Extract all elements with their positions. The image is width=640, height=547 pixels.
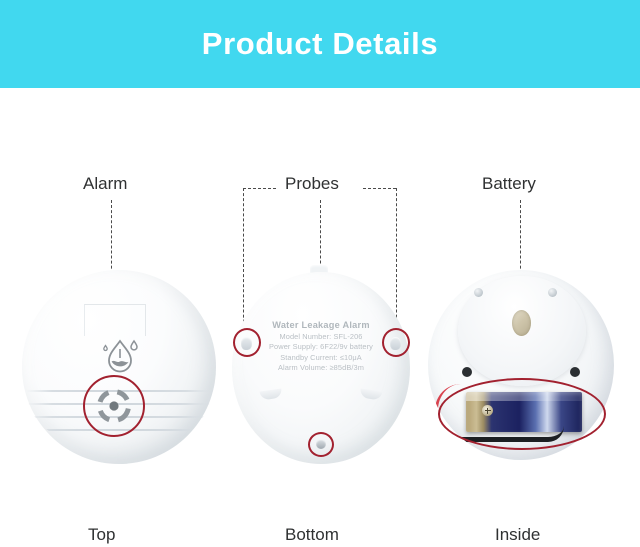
center-knob	[512, 310, 531, 336]
header-banner: Product Details	[0, 0, 640, 88]
highlight-ring-battery	[438, 378, 606, 450]
speaker-grill-icon	[96, 388, 132, 424]
page-title: Product Details	[202, 26, 438, 62]
spec-standby-current: Standby Current: ≤10μA	[236, 353, 406, 364]
product-image-top-view	[22, 270, 216, 464]
product-detail-stage: Alarm Probes Battery	[0, 88, 640, 547]
spec-power-supply: Power Supply: 6F22/9v battery	[236, 342, 406, 353]
highlight-ring-probe-left	[233, 328, 261, 357]
spec-alarm-volume: Alarm Volume: ≥85dB/3m	[236, 363, 406, 374]
spec-model-number: Model Number: SFL-206	[236, 332, 406, 343]
callout-label-alarm: Alarm	[83, 174, 127, 194]
caption-inside: Inside	[495, 525, 540, 545]
highlight-ring-probe-bottom	[308, 432, 334, 457]
sensor-dot-right	[570, 367, 580, 377]
connector-line-probe-right-horizontal	[363, 188, 396, 189]
product-image-inside-view	[428, 270, 614, 468]
spec-text-block: Water Leakage Alarm Model Number: SFL-20…	[236, 320, 406, 374]
caption-top: Top	[88, 525, 115, 545]
callout-label-probes: Probes	[285, 174, 339, 194]
callout-label-battery: Battery	[482, 174, 536, 194]
water-drop-icon	[99, 332, 141, 376]
spec-product-title: Water Leakage Alarm	[236, 320, 406, 331]
screw-left	[474, 288, 483, 297]
connector-line-probe-left-horizontal	[243, 188, 276, 189]
screw-right	[548, 288, 557, 297]
highlight-ring-probe-right	[382, 328, 410, 357]
caption-bottom: Bottom	[285, 525, 339, 545]
sensor-dot-left	[462, 367, 472, 377]
